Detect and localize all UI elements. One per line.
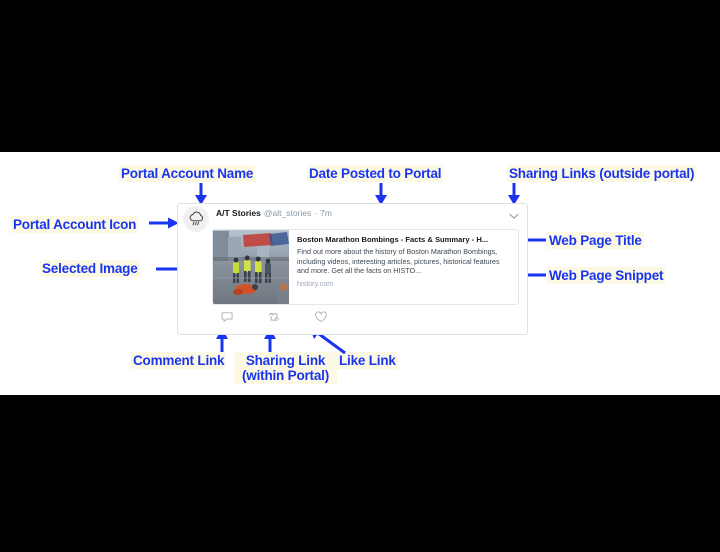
account-line: A/T Stories@alt_stories·7m xyxy=(216,208,332,219)
slide-canvas: Portal Account Name Date Posted to Porta… xyxy=(0,152,720,395)
arrow-to-date-posted xyxy=(373,183,389,205)
annotation-portal-account-name: Portal Account Name xyxy=(119,165,255,182)
arrow-to-account-icon xyxy=(149,216,179,230)
arrow-to-account-name xyxy=(193,183,209,205)
comment-bubble-icon[interactable] xyxy=(220,310,236,326)
selected-image-thumbnail[interactable] xyxy=(213,230,289,304)
heart-icon[interactable] xyxy=(314,310,330,326)
annotation-sharing-link-within-portal: Sharing Link (within Portal) xyxy=(234,352,337,384)
avatar[interactable] xyxy=(183,206,209,232)
account-handle[interactable]: @alt_stories xyxy=(264,208,311,218)
annotation-selected-image: Selected Image xyxy=(40,260,140,277)
annotation-comment-link: Comment Link xyxy=(131,352,226,369)
web-page-domain: history.com xyxy=(297,279,511,289)
post-header: A/T Stories@alt_stories·7m xyxy=(178,204,527,232)
arrow-to-sharing-links-outside xyxy=(506,183,522,205)
retweet-icon[interactable] xyxy=(267,310,283,326)
post-timestamp[interactable]: 7m xyxy=(320,208,332,218)
account-name[interactable]: A/T Stories xyxy=(216,208,261,218)
chevron-down-icon[interactable] xyxy=(508,210,520,222)
web-page-title[interactable]: Boston Marathon Bombings - Facts & Summa… xyxy=(297,235,511,245)
link-preview-card[interactable]: Boston Marathon Bombings - Facts & Summa… xyxy=(212,229,519,305)
social-post-card: A/T Stories@alt_stories·7m xyxy=(177,203,528,335)
rain-cloud-icon xyxy=(188,211,205,227)
annotation-portal-account-icon: Portal Account Icon xyxy=(11,216,138,233)
annotation-web-page-title: Web Page Title xyxy=(547,232,644,249)
annotation-web-page-snippet: Web Page Snippet xyxy=(547,267,665,284)
web-page-snippet: Find out more about the history of Bosto… xyxy=(297,247,511,276)
annotation-sharing-links-outside: Sharing Links (outside portal) xyxy=(507,165,696,182)
link-preview-text: Boston Marathon Bombings - Facts & Summa… xyxy=(289,230,518,304)
annotation-date-posted: Date Posted to Portal xyxy=(307,165,443,182)
post-action-bar xyxy=(212,309,412,329)
news-photo-illustration xyxy=(213,230,289,304)
account-separator: · xyxy=(314,208,317,218)
